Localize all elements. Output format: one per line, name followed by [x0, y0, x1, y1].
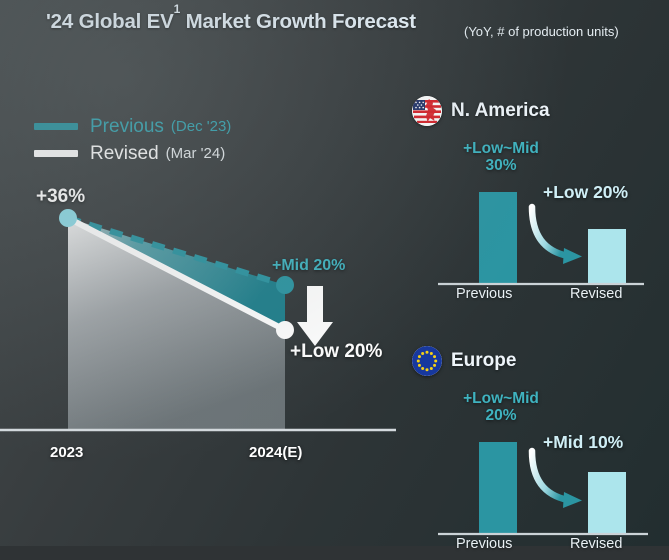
bar-label-previous-eu-line2: 20%	[485, 407, 516, 424]
legend-label-previous: Previous	[90, 116, 164, 138]
slide-header: '24 Global EV1 Market Growth Forecast (Y…	[0, 0, 669, 58]
bar-label-revised-north-america: +Low 20%	[543, 183, 669, 202]
trend-arrow-icon-north-america	[532, 207, 582, 264]
bar-label-revised-europe: +Mid 10%	[543, 433, 669, 452]
page-title-footnote-marker: 1	[174, 2, 180, 16]
chart-legend: Previous (Dec '23) Revised (Mar '24)	[34, 113, 231, 167]
label-growth-2023: +36%	[36, 186, 85, 208]
bar-previous-north-america	[479, 192, 517, 283]
bar-label-previous-na-line2: 30%	[485, 157, 516, 174]
legend-label-revised: Revised	[90, 143, 159, 165]
legend-item-previous: Previous (Dec '23)	[34, 113, 231, 140]
region-panel-north-america: N. America	[408, 95, 668, 310]
region-name-north-america: N. America	[451, 100, 550, 122]
legend-period-revised: (Mar '24)	[166, 145, 226, 162]
axis-label-revised-north-america: Revised	[570, 286, 622, 302]
global-ev-growth-chart	[0, 170, 400, 470]
label-revised-forecast-2024: +Low 20%	[290, 341, 382, 363]
bar-label-previous-na-line1: +Low~Mid	[463, 140, 539, 157]
bar-revised-europe	[588, 472, 626, 533]
axis-label-previous-europe: Previous	[456, 536, 512, 552]
bar-label-previous-north-america: +Low~Mid 30%	[446, 141, 556, 174]
region-header-north-america: N. America	[412, 95, 550, 127]
eu-flag-icon	[412, 346, 442, 376]
slide-background: '24 Global EV1 Market Growth Forecast (Y…	[0, 0, 669, 546]
legend-swatch-revised-icon	[34, 150, 78, 157]
bar-label-previous-europe: +Low~Mid 20%	[446, 391, 556, 424]
x-tick-2023: 2023	[50, 444, 83, 461]
data-point-2023	[59, 209, 77, 227]
page-title-main: '24 Global EV	[46, 10, 174, 33]
axis-label-revised-europe: Revised	[570, 536, 622, 552]
bar-label-previous-eu-line1: +Low~Mid	[463, 390, 539, 407]
region-name-europe: Europe	[451, 350, 516, 372]
down-arrow-icon	[297, 286, 333, 346]
page-title: '24 Global EV1 Market Growth Forecast	[46, 9, 416, 34]
page-title-rest: Market Growth Forecast	[180, 10, 416, 33]
bar-revised-north-america	[588, 229, 626, 283]
axis-label-previous-north-america: Previous	[456, 286, 512, 302]
global-ev-growth-svg	[0, 170, 400, 470]
x-tick-2024: 2024(E)	[249, 444, 302, 461]
data-point-previous-2024	[276, 276, 294, 294]
label-previous-forecast-2024: +Mid 20%	[272, 257, 345, 275]
title-note: (YoY, # of production units)	[464, 24, 619, 39]
region-panel-europe: Europe +L	[408, 345, 668, 560]
legend-period-previous: (Dec '23)	[171, 118, 231, 135]
us-flag-icon	[412, 96, 442, 126]
trend-arrow-icon-europe	[532, 451, 582, 508]
data-point-revised-2024	[276, 321, 294, 339]
legend-swatch-previous-icon	[34, 123, 78, 130]
region-header-europe: Europe	[412, 345, 516, 377]
legend-item-revised: Revised (Mar '24)	[34, 140, 231, 167]
bar-previous-europe	[479, 442, 517, 533]
